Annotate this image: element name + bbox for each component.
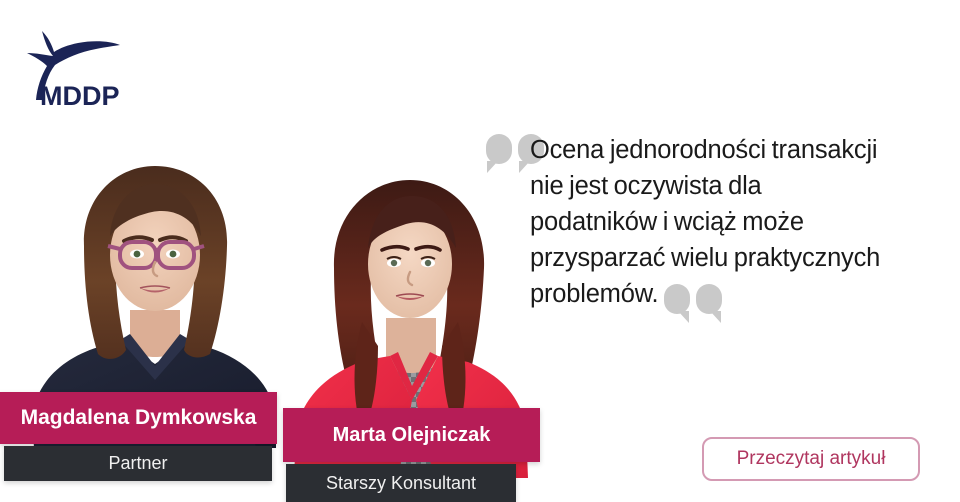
person-name: Marta Olejniczak xyxy=(333,424,491,447)
logo-wordmark: MDDP xyxy=(40,81,120,108)
person-role: Partner xyxy=(108,453,167,474)
role-plate-magdalena-dymkowska: Partner xyxy=(4,446,272,481)
quote-line-4: przysparzać wielu praktycznych xyxy=(530,240,934,276)
promo-banner: MDDP xyxy=(0,0,960,502)
person-name: Magdalena Dymkowska xyxy=(21,406,257,430)
role-plate-marta-olejniczak: Starszy Konsultant xyxy=(286,464,516,502)
quote-block: Ocena jednorodności transakcji nie jest … xyxy=(486,132,934,312)
quote-line-3: podatników i wciąż może xyxy=(530,204,934,240)
quote-line-5: problemów. xyxy=(530,276,934,312)
person-role: Starszy Konsultant xyxy=(326,473,476,494)
name-plate-marta-olejniczak: Marta Olejniczak xyxy=(283,408,540,462)
mddp-logo[interactable]: MDDP xyxy=(14,22,130,108)
name-plate-magdalena-dymkowska: Magdalena Dymkowska xyxy=(0,392,277,444)
quote-line-1: Ocena jednorodności transakcji xyxy=(530,132,934,168)
quote-text: Ocena jednorodności transakcji nie jest … xyxy=(486,132,934,312)
read-article-button[interactable]: Przeczytaj artykuł xyxy=(702,437,920,481)
read-article-button-label: Przeczytaj artykuł xyxy=(737,448,886,470)
quote-line-2: nie jest oczywista dla xyxy=(530,168,934,204)
